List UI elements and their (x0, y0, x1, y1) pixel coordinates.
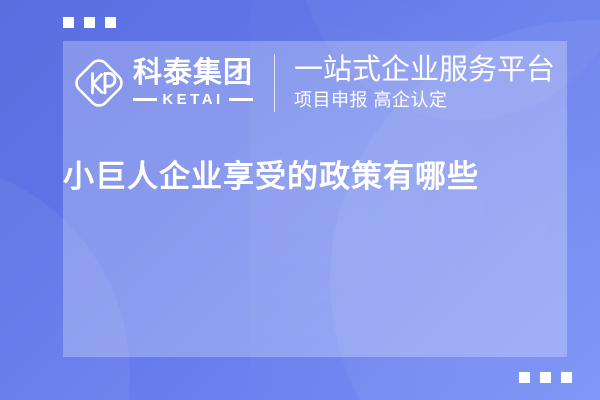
brand-wordmark: 科泰集团 KETAI (133, 59, 253, 107)
tagline-main: 一站式企业服务平台 (294, 55, 555, 86)
brand-name-cn: 科泰集团 (133, 59, 253, 88)
page-title: 小巨人企业享受的政策有哪些 (63, 158, 567, 197)
promo-banner: 科泰集团 KETAI 一站式企业服务平台 项目申报 高企认定 小巨人企业享受的政… (0, 0, 600, 400)
tagline: 一站式企业服务平台 项目申报 高企认定 (294, 55, 555, 111)
decor-square (540, 372, 551, 383)
decor-square (105, 17, 116, 28)
brand-logo: 科泰集团 KETAI (72, 56, 253, 110)
brand-header: 科泰集团 KETAI 一站式企业服务平台 项目申报 高企认定 (63, 44, 567, 122)
wordmark-rule-left (133, 98, 157, 101)
ketai-diamond-kp-monogram-icon (72, 56, 126, 110)
decor-square (84, 17, 95, 28)
tagline-sub: 项目申报 高企认定 (294, 91, 555, 111)
decor-square (63, 17, 74, 28)
brand-name-en: KETAI (162, 92, 223, 107)
decor-square (519, 372, 530, 383)
brand-name-en-row: KETAI (133, 92, 253, 107)
decorative-dots-top-left (63, 17, 116, 28)
decorative-dots-bottom-right (519, 372, 572, 383)
wordmark-rule-right (229, 98, 253, 101)
decor-square (561, 372, 572, 383)
vertical-divider (274, 54, 275, 112)
